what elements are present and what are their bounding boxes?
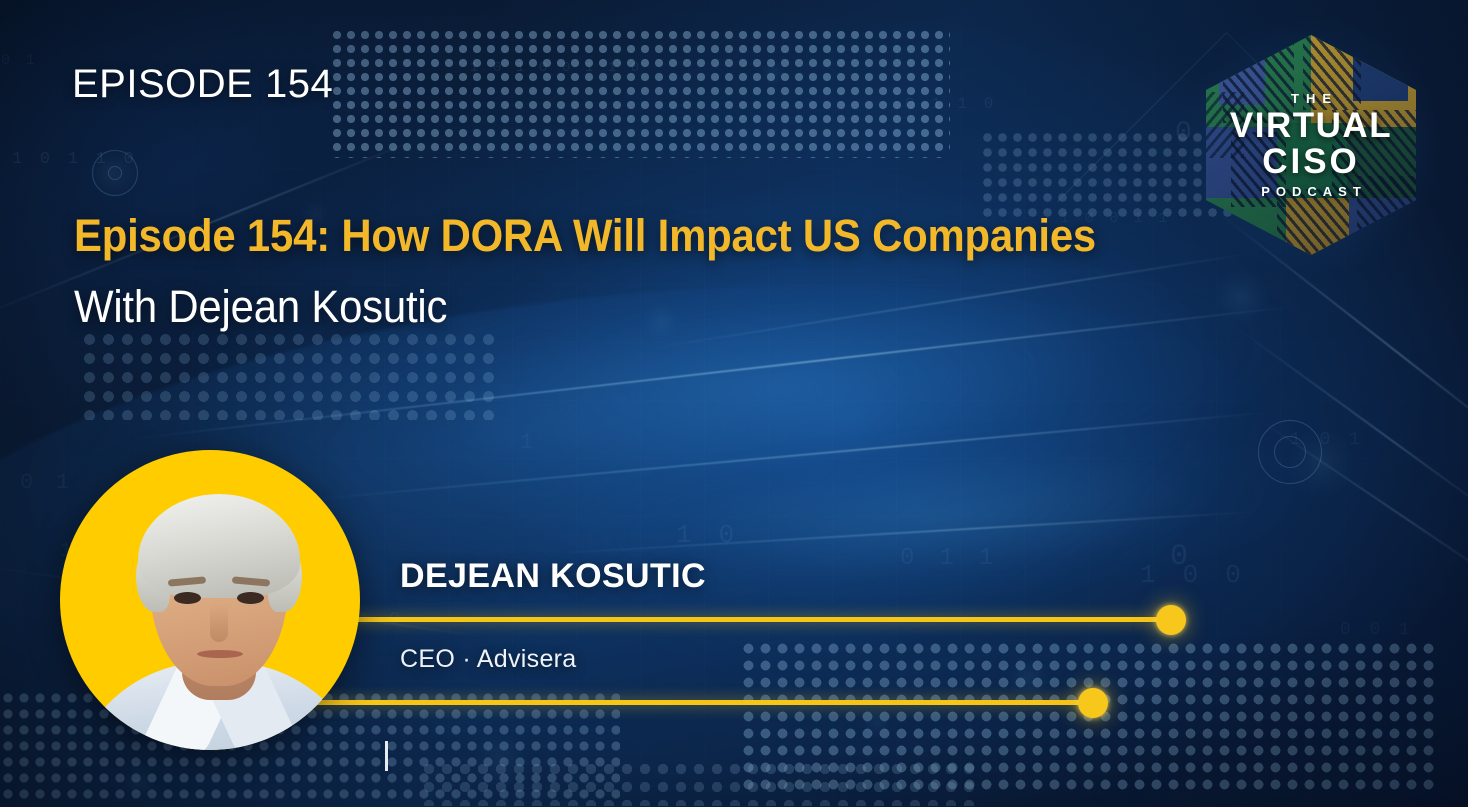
bg-binary-glyph: 0 1 1 0 (905, 95, 997, 113)
portrait-eye-left (174, 592, 201, 604)
bg-bokeh (1212, 268, 1270, 326)
bg-streak (302, 411, 1278, 502)
bg-ring (1274, 436, 1306, 468)
bg-binary-glyph: 1 (520, 430, 538, 455)
bg-binary-glyph: 0 0 1 (1340, 620, 1414, 640)
bg-bokeh (470, 730, 530, 790)
bg-ring (108, 166, 122, 180)
guest-role: CEO · Advisera (400, 645, 576, 674)
bg-binary-glyph: 0 1 (20, 470, 74, 495)
bg-streak (1255, 416, 1468, 585)
bg-streak (541, 511, 1260, 556)
page-title: Episode 154: How DORA Will Impact US Com… (74, 200, 1214, 342)
title-line-secondary: With Dejean Kosutic (74, 271, 1134, 342)
accent-dot-bottom (1078, 688, 1108, 718)
portrait-hair (138, 494, 300, 598)
bg-binary-glyph: 0 1 (1, 52, 38, 69)
guest-name: DEJEAN KOSUTIC (400, 557, 706, 596)
logo-text-ciso: CISO (1262, 144, 1360, 181)
bg-ring (1258, 420, 1322, 484)
bg-bokeh (1285, 428, 1357, 500)
portrait-nose (210, 604, 228, 642)
bg-ring (92, 150, 138, 196)
bg-dot-matrix (330, 28, 950, 158)
bg-binary-glyph: 0 1 1 (900, 545, 998, 572)
bg-streak (1231, 323, 1468, 519)
bg-binary-glyph: 1 0 (676, 520, 740, 550)
episode-card: 1 0 1 1 00 11 0 1 0 0 1 1 00 1 1 01 0 0 … (0, 0, 1468, 807)
bg-bokeh (120, 762, 158, 800)
logo-text-podcast: PODCAST (1261, 184, 1367, 199)
bg-binary-glyph: 1 0 1 (1290, 430, 1364, 450)
bg-binary-glyph: 1 0 0 (1140, 560, 1247, 590)
text-caret (385, 741, 388, 771)
podcast-logo: THE VIRTUAL CISO PODCAST (1206, 35, 1416, 255)
portrait-eye-right (237, 592, 264, 604)
bg-bokeh (1005, 655, 1051, 701)
avatar-portrait (94, 466, 344, 750)
bg-binary-glyph: 1 0 1 1 0 (12, 150, 137, 169)
bg-dot-matrix (420, 760, 980, 806)
bg-binary-glyph: 0 (1175, 118, 1198, 149)
bg-bokeh (86, 146, 140, 200)
avatar (60, 450, 360, 750)
episode-kicker: EPISODE 154 (72, 62, 333, 107)
bg-dot-matrix (80, 330, 500, 420)
logo-wordmark: THE VIRTUAL CISO PODCAST (1206, 35, 1416, 255)
logo-text-the: THE (1291, 91, 1338, 106)
accent-dot-top (1156, 605, 1186, 635)
title-line-primary: Episode 154: How DORA Will Impact US Com… (74, 200, 1134, 271)
bg-binary-glyph: 1 0 1 0 0 1 1 0 (470, 60, 642, 76)
bg-binary-glyph: 0 (1170, 540, 1195, 574)
logo-text-virtual: VIRTUAL (1230, 108, 1392, 144)
bg-bokeh (760, 60, 786, 86)
bg-bokeh (860, 706, 894, 740)
portrait-mouth (197, 650, 243, 658)
